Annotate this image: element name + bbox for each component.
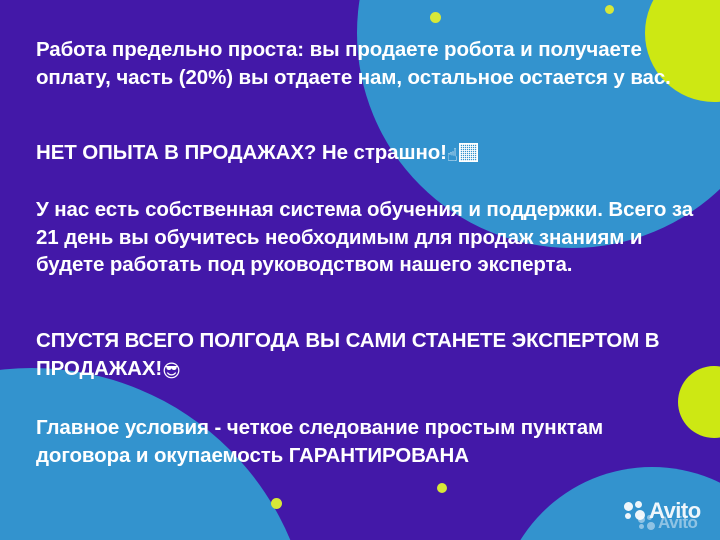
- paragraph-become-expert: СПУСТЯ ВСЕГО ПОЛГОДА ВЫ САМИ СТАНЕТЕ ЭКС…: [36, 327, 696, 385]
- pointing-hand-icon: ☝: [447, 145, 458, 166]
- paragraph-no-experience: НЕТ ОПЫТА В ПРОДАЖАХ? Не страшно!☝: [36, 139, 696, 170]
- avito-watermark-primary: Avito: [624, 500, 701, 522]
- avito-watermark: Avito Avito: [624, 500, 716, 538]
- promo-image-canvas: Работа предельно проста: вы продаете роб…: [0, 0, 720, 540]
- avito-logo-dots-icon: [624, 501, 646, 521]
- sunglasses-smiley-icon: 😎: [162, 361, 181, 382]
- paragraph-main-condition: Главное условия - четкое следование прос…: [36, 414, 696, 469]
- promo-text-layer: Работа предельно проста: вы продаете роб…: [0, 0, 720, 540]
- avito-wordmark: Avito: [649, 500, 701, 522]
- paragraph-training-system: У нас есть собственная система обучения …: [36, 196, 696, 279]
- paragraph-intro: Работа предельно проста: вы продаете роб…: [36, 36, 696, 91]
- paragraph-no-experience-text: НЕТ ОПЫТА В ПРОДАЖАХ? Не страшно!: [36, 141, 447, 164]
- missing-glyph-box-icon: [459, 143, 478, 162]
- paragraph-become-expert-text: СПУСТЯ ВСЕГО ПОЛГОДА ВЫ САМИ СТАНЕТЕ ЭКС…: [36, 329, 660, 380]
